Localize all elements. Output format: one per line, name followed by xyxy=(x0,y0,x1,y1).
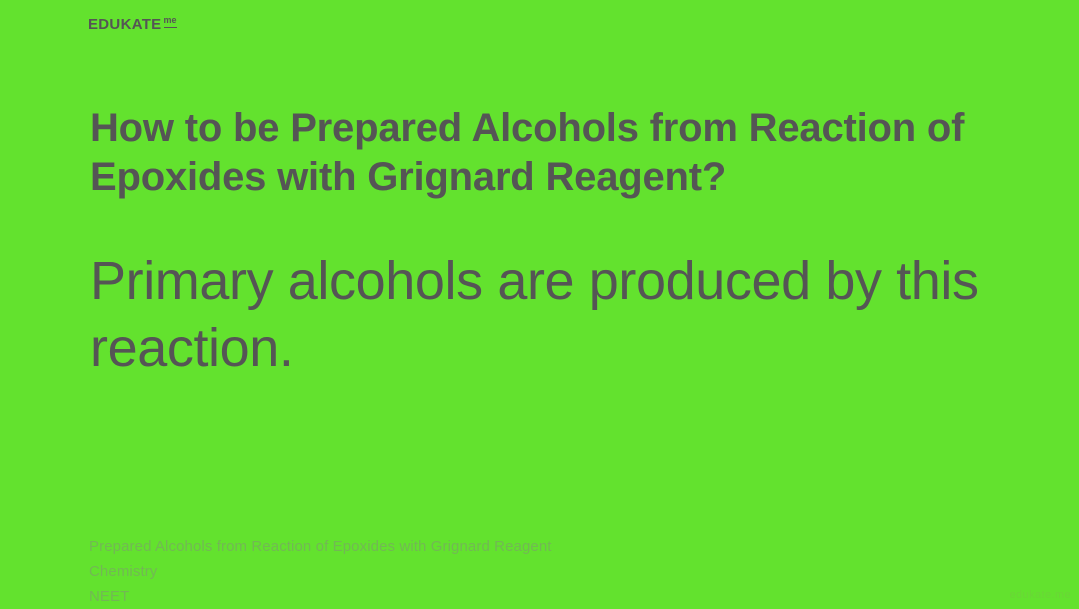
slide-footer: Prepared Alcohols from Reaction of Epoxi… xyxy=(89,534,552,609)
slide-canvas: EDUKATE me How to be Prepared Alcohols f… xyxy=(0,0,1079,607)
footer-topic: Prepared Alcohols from Reaction of Epoxi… xyxy=(89,534,552,559)
brand-wordmark: EDUKATE xyxy=(88,17,162,32)
footer-exam: NEET xyxy=(89,584,552,609)
footer-subject: Chemistry xyxy=(89,559,552,584)
corner-watermark: edukate.me xyxy=(1010,589,1071,601)
slide-body-text: Primary alcohols are produced by this re… xyxy=(90,248,990,382)
slide-title: How to be Prepared Alcohols from Reactio… xyxy=(90,104,1000,202)
brand-suffix: me xyxy=(164,16,177,28)
edukate-logo[interactable]: EDUKATE me xyxy=(88,17,177,32)
